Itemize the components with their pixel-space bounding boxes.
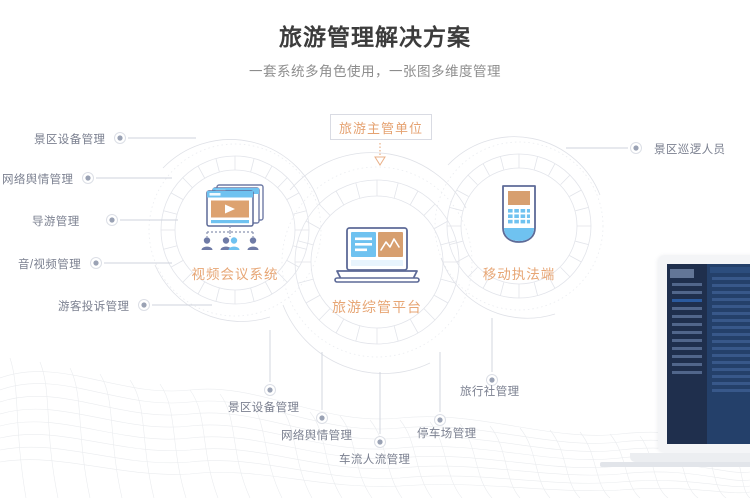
left-label-1[interactable]: 网络舆情管理 — [2, 171, 73, 187]
page-title: 旅游管理解决方案 — [0, 22, 750, 52]
dashboard-row — [712, 284, 750, 287]
background-mesh-decoration — [0, 338, 750, 498]
node-video-conference-label: 视频会议系统 — [160, 263, 310, 283]
laptop-screen — [658, 255, 750, 453]
node-mobile-enforcement-label: 移动执法端 — [444, 263, 594, 283]
dashboard-menu-item[interactable] — [672, 299, 702, 302]
right-connector-dots — [631, 143, 642, 154]
node-video-conference[interactable]: 视频会议系统 — [160, 182, 310, 283]
dashboard-row — [712, 305, 750, 308]
dashboard-main-panel — [707, 264, 750, 444]
dashboard-menu-item[interactable] — [672, 339, 702, 342]
dashboard-row — [712, 333, 750, 336]
dashboard-ui — [667, 264, 750, 444]
bottom-label-0[interactable]: 景区设备管理 — [228, 399, 299, 415]
left-connector-dots — [83, 133, 150, 311]
dashboard-menu-item[interactable] — [672, 315, 702, 318]
laptop-base-front — [600, 462, 750, 467]
dashboard-row — [712, 368, 750, 371]
dashboard-row — [712, 319, 750, 322]
dashboard-sidebar — [667, 264, 707, 444]
dashboard-menu-item[interactable] — [672, 355, 702, 358]
dashboard-menu-item[interactable] — [672, 283, 702, 286]
dashboard-menu-item[interactable] — [672, 363, 702, 366]
dashboard-row — [712, 389, 750, 392]
dashboard-row — [712, 354, 750, 357]
bottom-connectors — [270, 318, 492, 434]
dashboard-toolbar — [710, 267, 750, 273]
dashboard-row — [712, 340, 750, 343]
dashboard-menu-item[interactable] — [672, 323, 702, 326]
badge-label: 旅游主管单位 — [339, 118, 423, 137]
left-label-2[interactable]: 导游管理 — [32, 213, 80, 229]
badge-tourism-authority[interactable]: 旅游主管单位 — [330, 114, 432, 140]
dashboard-menu-item[interactable] — [672, 331, 702, 334]
dashboard-row — [712, 298, 750, 301]
page-subtitle: 一套系统多角色使用，一张图多维度管理 — [0, 62, 750, 82]
dashboard-row — [712, 312, 750, 315]
right-label-0[interactable]: 景区巡逻人员 — [654, 141, 725, 157]
bottom-label-1[interactable]: 网络舆情管理 — [281, 427, 352, 443]
dashboard-row — [712, 347, 750, 350]
bottom-label-3[interactable]: 停车场管理 — [417, 425, 477, 441]
bottom-label-4[interactable]: 旅行社管理 — [460, 383, 520, 399]
dashboard-menu-item[interactable] — [672, 307, 702, 310]
video-window-icon — [193, 182, 277, 254]
handheld-device-icon — [489, 182, 549, 254]
node-tourism-platform-label: 旅游综管平台 — [302, 297, 452, 317]
dashboard-row — [712, 375, 750, 378]
dashboard-row — [712, 291, 750, 294]
badge-down-arrow-icon — [375, 143, 385, 165]
laptop-dashboard-icon — [327, 226, 427, 288]
dashboard-row — [712, 277, 750, 280]
dashboard-row — [712, 382, 750, 385]
laptop-base — [630, 453, 750, 462]
dashboard-menu-item[interactable] — [672, 291, 702, 294]
dashboard-row — [712, 326, 750, 329]
left-label-0[interactable]: 景区设备管理 — [34, 131, 105, 147]
dashboard-menu-item[interactable] — [672, 347, 702, 350]
dashboard-menu-item[interactable] — [672, 371, 702, 374]
node-mobile-enforcement[interactable]: 移动执法端 — [444, 182, 594, 283]
solution-diagram-page: 旅游管理解决方案 一套系统多角色使用，一张图多维度管理 — [0, 0, 750, 498]
left-label-3[interactable]: 音/视频管理 — [18, 256, 81, 272]
page-header: 旅游管理解决方案 一套系统多角色使用，一张图多维度管理 — [0, 22, 750, 82]
dashboard-row — [712, 361, 750, 364]
dashboard-logo — [670, 269, 704, 278]
left-label-4[interactable]: 游客投诉管理 — [58, 298, 129, 314]
bottom-label-2[interactable]: 车流人流管理 — [339, 451, 410, 467]
node-tourism-platform[interactable]: 旅游综管平台 — [302, 226, 452, 317]
